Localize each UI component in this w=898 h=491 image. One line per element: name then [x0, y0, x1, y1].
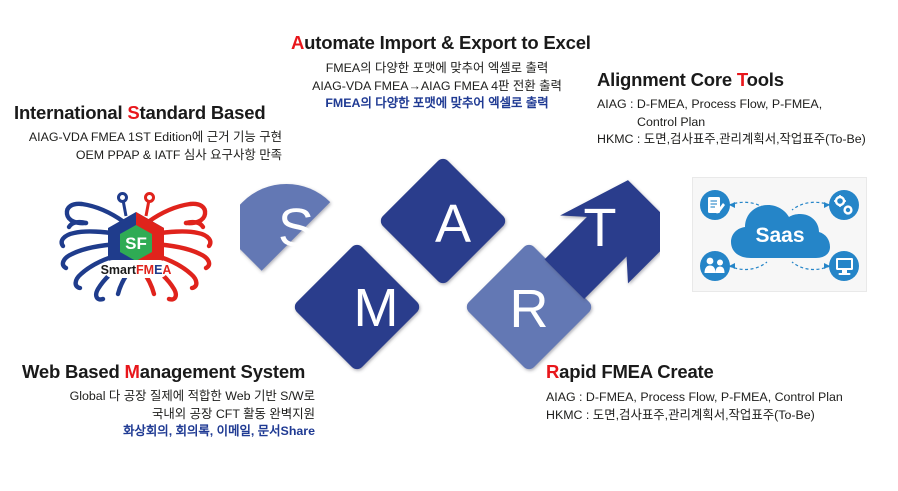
heading-automate: Automate Import & Export to Excel	[291, 33, 591, 53]
smart-letter-r: R	[510, 279, 549, 339]
automate-line-blue: FMEA의 다양한 포맷에 맞추어 엑셀로 출력	[291, 95, 583, 113]
automate-line-1: FMEA의 다양한 포맷에 맞추어 엑셀로 출력	[291, 60, 583, 78]
gears-icon	[829, 190, 859, 220]
heading-pre: nternational	[19, 102, 127, 123]
rapid-line-2: HKMC : 도면,검사표주,관리계획서,작업표주(To-Be)	[546, 407, 866, 425]
smart-chevron-diagram: S M A R T	[240, 148, 660, 378]
rapid-line-1: AIAG : D-FMEA, Process Flow, P-FMEA, Con…	[546, 389, 866, 407]
heading-pre: Alignment Core	[597, 69, 737, 90]
smart-letter-m: M	[354, 278, 399, 338]
heading-pre: Web Based	[22, 361, 125, 382]
wordmark-m: M	[144, 263, 154, 277]
sf-badge-text: SF	[125, 234, 147, 253]
web-line-blue: 화상회의, 회의록, 이메일, 문서Share	[22, 423, 315, 441]
wordmark-e: E	[154, 263, 162, 277]
alignment-line-1: AIAG : D-FMEA, Process Flow, P-FMEA,	[597, 96, 882, 114]
web-line-2: 국내외 공장 CFT 활동 완벽지원	[22, 406, 315, 424]
heading-highlight: M	[125, 361, 140, 382]
smart-letter-s: S	[278, 198, 314, 258]
web-line-1: Global 다 공장 질제에 적합한 Web 기반 S/W로	[22, 388, 315, 406]
block-automate-import-export: Automate Import & Export to Excel FMEA의 …	[291, 33, 591, 113]
svg-text:SmartFMEA: SmartFMEA	[101, 263, 172, 277]
logo-wordmark: SmartFMEA	[101, 260, 172, 278]
block-alignment-core-tools: Alignment Core Tools AIAG : D-FMEA, Proc…	[597, 70, 882, 149]
automate-line-2: AIAG-VDA FMEA→AIAG FMEA 4판 전환 출력	[291, 78, 583, 96]
heading-international-standard: International Standard Based	[14, 103, 282, 123]
alignment-line-3: HKMC : 도면,검사표주,관리계획서,작업표주(To-Be)	[597, 131, 882, 149]
saas-cloud: Saas	[731, 205, 830, 258]
saas-label: Saas	[755, 224, 804, 247]
heading-post: tandard Based	[140, 102, 266, 123]
monitor-icon	[829, 251, 859, 281]
alignment-line-2: Control Plan	[597, 114, 882, 132]
heading-highlight: S	[127, 102, 139, 123]
heading-highlight: T	[737, 69, 747, 90]
heading-post: utomate Import & Export to Excel	[304, 32, 591, 53]
wordmark-smart: Smart	[101, 263, 137, 277]
smart-letter-a: A	[435, 194, 471, 254]
smart-letter-t: T	[584, 198, 617, 258]
heading-post: ools	[747, 69, 784, 90]
international-line-1: AIAG-VDA FMEA 1ST Edition에 근거 기능 구현	[14, 129, 282, 147]
wordmark-a: A	[162, 263, 171, 277]
users-icon	[700, 251, 730, 281]
saas-diagram-panel: Saas	[692, 177, 867, 292]
heading-highlight: A	[291, 32, 304, 53]
heading-alignment: Alignment Core Tools	[597, 70, 882, 90]
document-edit-icon	[700, 190, 730, 220]
smartfmea-logo: SF SmartFMEA	[52, 190, 220, 302]
